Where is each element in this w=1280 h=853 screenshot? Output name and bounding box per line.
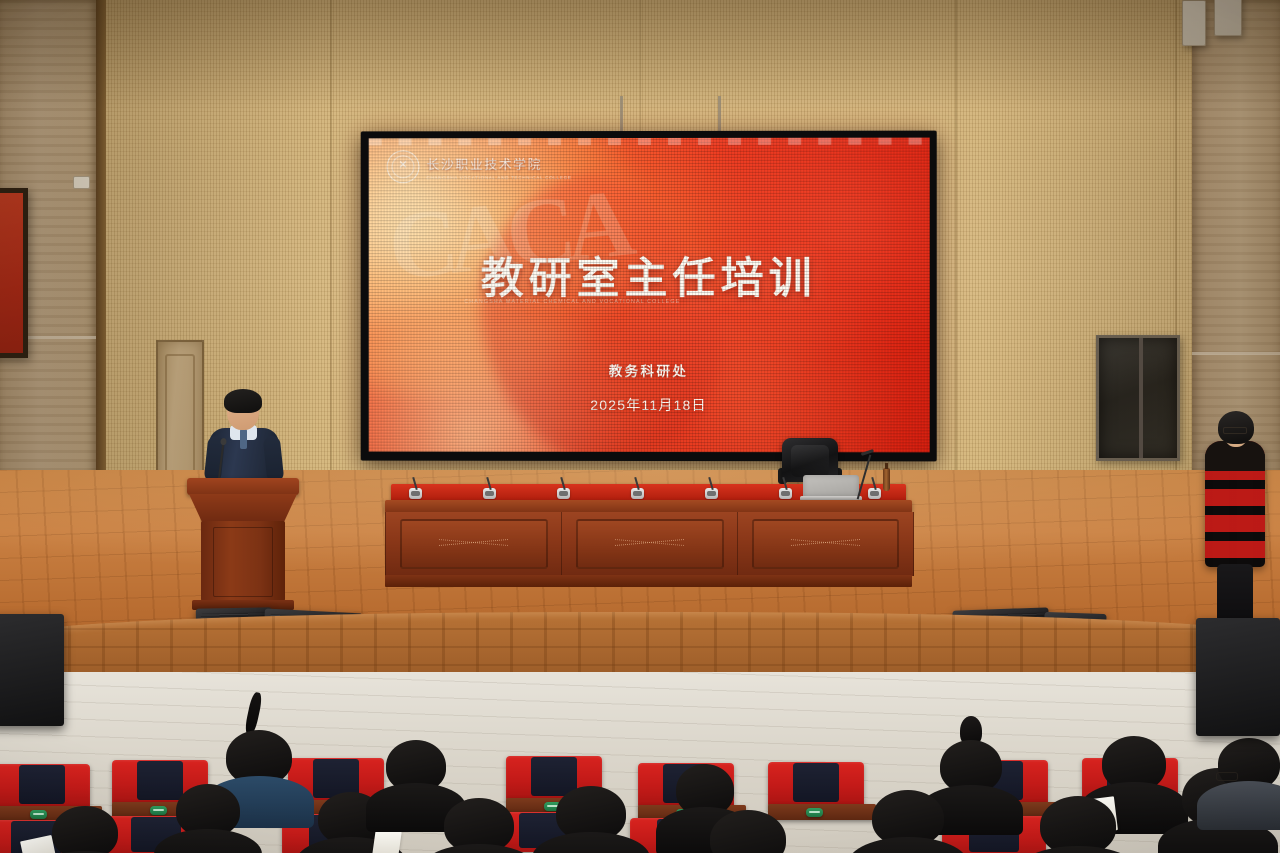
table-microphone <box>705 488 718 499</box>
slide-logo-block: ✕ 长沙职业技术学院 CHANGSHA VOCATIONAL AND TECHN… <box>387 150 572 183</box>
attendee <box>1040 796 1116 853</box>
glasses-icon <box>1216 772 1238 781</box>
presenter-tie <box>240 429 247 449</box>
table-segment <box>737 512 914 576</box>
screen-rigging-rod <box>620 96 623 136</box>
table-microphone <box>779 488 792 499</box>
led-screen-content: CACA ✕ 长沙职业技术学院 CHANGSHA VOCATIONAL AND … <box>369 138 930 453</box>
led-display-wall: CACA ✕ 长沙职业技术学院 CHANGSHA VOCATIONAL AND … <box>361 131 937 462</box>
laptop-computer[interactable] <box>800 475 862 503</box>
table-microphone <box>483 488 496 499</box>
seat-number-tag <box>150 806 167 815</box>
table-segment <box>385 512 563 576</box>
floor-subwoofer-left <box>0 614 64 726</box>
handout-paper <box>372 828 401 853</box>
podium-top <box>187 478 299 495</box>
school-crest-icon: ✕ <box>387 150 420 183</box>
table-microphone <box>868 488 881 499</box>
slide-date: 2025年11月18日 <box>369 395 930 416</box>
table-panel-inset <box>576 519 724 569</box>
attendee <box>52 806 118 853</box>
attendee <box>386 740 446 810</box>
floor-subwoofer-right <box>1196 618 1280 736</box>
seat-center-panel <box>19 765 65 804</box>
auditorium-scene: CACA ✕ 长沙职业技术学院 CHANGSHA VOCATIONAL AND … <box>0 0 1280 853</box>
slide-department: 教务科研处 <box>369 360 930 380</box>
presenter-arm-right <box>263 435 285 483</box>
crest-glyph: ✕ <box>388 160 419 171</box>
table-microphone <box>409 488 422 499</box>
table-microphone <box>631 488 644 499</box>
table-panel-inset <box>400 519 548 569</box>
podium-body <box>201 521 285 601</box>
seat-number-tag <box>30 810 47 819</box>
attendee-head <box>1040 796 1116 853</box>
table-panel-inset <box>752 519 899 569</box>
auditorium-seat[interactable] <box>768 762 864 806</box>
attendee <box>940 740 1002 812</box>
speaker-podium <box>196 478 290 610</box>
attendee <box>556 786 626 853</box>
table-microphone <box>557 488 570 499</box>
attendee-shoulders <box>1197 781 1280 830</box>
presenter-hair <box>224 389 262 413</box>
seat-number-tag <box>806 808 823 817</box>
slide-title: 教研室主任培训 <box>369 244 930 306</box>
standing-attendee-right <box>1203 411 1267 643</box>
water-bottle <box>883 468 890 491</box>
led-top-glint <box>369 138 930 146</box>
auditorium-seat[interactable] <box>0 764 90 808</box>
glasses-icon <box>1223 427 1247 434</box>
attendee <box>176 784 240 853</box>
attendee <box>444 798 514 853</box>
table-plinth <box>385 575 912 587</box>
attendee <box>872 790 944 853</box>
laptop-lid <box>803 475 859 497</box>
seat-center-panel <box>793 763 839 802</box>
presenter-at-podium <box>205 392 283 492</box>
podium-slope <box>189 494 297 522</box>
head-table <box>385 484 912 588</box>
attendee-head <box>710 810 786 853</box>
school-name-en: CHANGSHA VOCATIONAL AND TECHNICAL COLLEG… <box>426 175 571 180</box>
table-segment <box>561 512 739 576</box>
attendee <box>710 810 786 853</box>
school-name-cn: 长沙职业技术学院 <box>426 154 571 173</box>
attendee-head <box>52 806 118 853</box>
slide-subtitle-en: CHANGSHA MATERIAL CHEMICAL AND VOCATIONA… <box>464 298 680 307</box>
